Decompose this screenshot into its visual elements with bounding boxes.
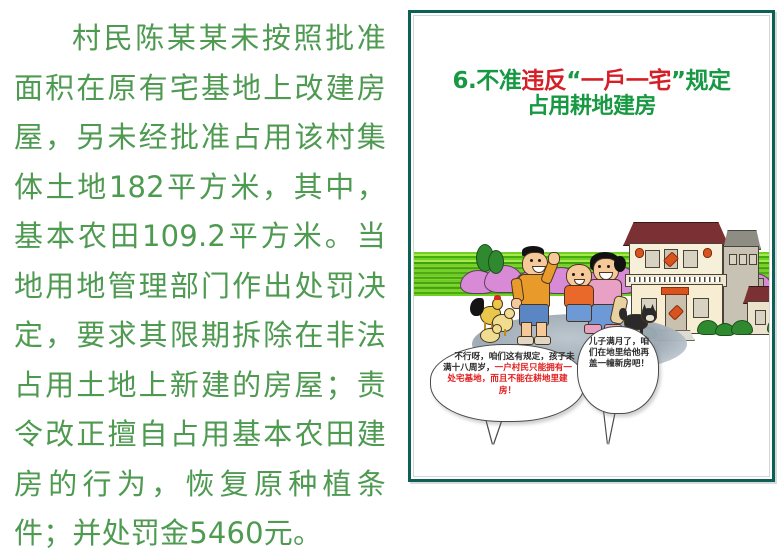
man-shoe	[534, 336, 551, 345]
speech-bubble-man-text: 不行呀，咱们这有规定，孩子未满十八周岁，一户村民只能拥有一处宅基地，而且不能在耕…	[439, 352, 576, 397]
poster-title-quote-close: ”	[671, 68, 686, 94]
poster-title-part3: 一戶一宅	[581, 68, 671, 94]
chick-head	[492, 324, 502, 334]
baby-eye	[581, 273, 584, 276]
house-window	[683, 250, 698, 268]
tree	[488, 250, 504, 274]
bush	[731, 320, 753, 335]
lantern-icon	[703, 248, 712, 258]
tower-window	[739, 254, 747, 265]
poster-title-part2: 违反	[521, 68, 566, 94]
woman-eye	[598, 265, 601, 268]
case-description-column: 村民陈某某未按照批准面积在原有宅基地上改建房屋，另未经批准占用该村集体土地182…	[0, 14, 392, 484]
dog-snout	[646, 315, 654, 321]
figure-baby	[562, 264, 596, 324]
hen-leg	[504, 329, 506, 336]
baby-eye	[572, 273, 575, 276]
speech-bubble-woman: 儿子满月了，咱们在地里给他再盖一幢新房吧！	[577, 326, 659, 414]
poster-title-part4: 规定	[686, 68, 731, 94]
page-root: 村民陈某某未按照批准面积在原有宅基地上改建房屋，另未经批准占用该村集体土地182…	[0, 0, 782, 496]
house-door-plaque	[661, 287, 689, 295]
lantern-icon	[635, 248, 644, 258]
speech-bubble-woman-text: 儿子满月了，咱们在地里给他再盖一幢新房吧！	[587, 337, 651, 371]
man-eye	[530, 259, 533, 262]
man-raised-hand	[548, 252, 560, 265]
speech-bubble-man: 不行呀，咱们这有规定，孩子未满十八周岁，一户村民只能拥有一处宅基地，而且不能在耕…	[430, 344, 585, 422]
poster-panel-inner: 6.不准违反“一戶一宅”规定 占用耕地建房	[413, 15, 770, 477]
poster-title: 6.不准违反“一戶一宅”规定 占用耕地建房	[414, 68, 769, 120]
poster-title-number: 6.	[453, 68, 477, 94]
poster-title-quote-open: “	[566, 68, 581, 94]
tower-window	[749, 254, 757, 265]
rooster-comb	[494, 295, 501, 300]
figure-man	[510, 246, 562, 346]
poster-title-part1: 不准	[476, 68, 521, 94]
illustration-scene: 不行呀，咱们这有规定，孩子未满十八周岁，一户村民只能拥有一处宅基地，而且不能在耕…	[414, 166, 769, 406]
poster-panel: 6.不准违反“一戶一宅”规定 占用耕地建房	[408, 10, 775, 482]
case-description-text: 村民陈某某未按照批准面积在原有宅基地上改建房屋，另未经批准占用该村集体土地182…	[0, 14, 392, 559]
house-balcony-railing	[629, 277, 721, 282]
house-window	[693, 298, 709, 318]
woman-hair-bun	[614, 256, 626, 272]
hen-head	[504, 308, 515, 319]
house-window	[645, 250, 660, 268]
woman-eye	[607, 265, 610, 268]
poster-title-line2: 占用耕地建房	[414, 94, 769, 120]
tower-window	[729, 254, 737, 265]
annex-window	[755, 310, 766, 325]
man-eye	[538, 259, 541, 262]
bubble-tail-right	[604, 410, 615, 444]
baby-pants	[566, 304, 592, 322]
rooster-tail	[470, 298, 484, 316]
dog-tail	[619, 308, 627, 320]
